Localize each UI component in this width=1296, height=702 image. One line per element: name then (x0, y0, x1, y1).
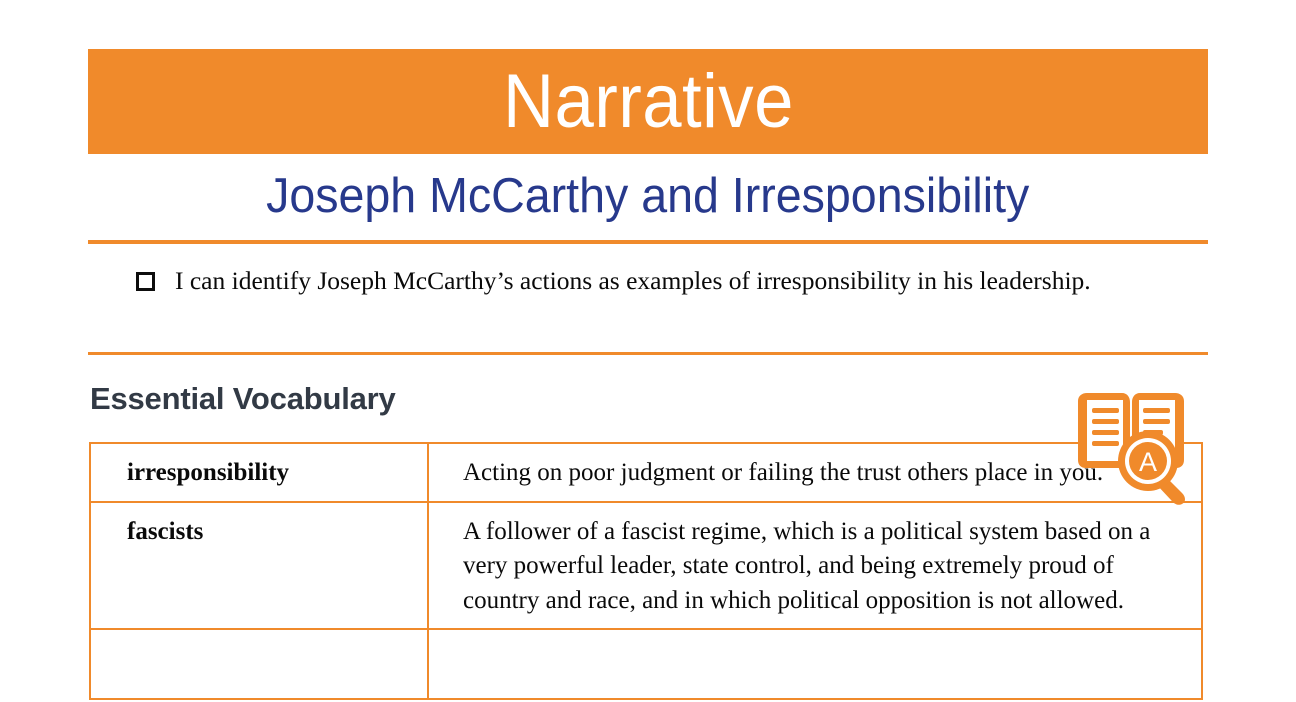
divider-above-objective (88, 240, 1208, 244)
vocabulary-table: irresponsibility Acting on poor judgment… (89, 442, 1203, 700)
table-row: irresponsibility Acting on poor judgment… (90, 443, 1202, 502)
learning-objective: I can identify Joseph McCarthy’s actions… (136, 263, 1156, 299)
subtitle-container: Joseph McCarthy and Irresponsibility (88, 163, 1208, 229)
page-subtitle: Joseph McCarthy and Irresponsibility (266, 172, 1029, 221)
banner-title: Narrative (503, 64, 794, 140)
vocabulary-definition: A follower of a fascist regime, which is… (428, 502, 1202, 630)
objective-text: I can identify Joseph McCarthy’s actions… (175, 263, 1091, 299)
title-banner: Narrative (88, 49, 1208, 154)
vocabulary-term: fascists (90, 502, 428, 630)
table-row: fascists A follower of a fascist regime,… (90, 502, 1202, 630)
vocabulary-heading: Essential Vocabulary (90, 381, 396, 417)
objective-checkbox[interactable] (136, 272, 155, 291)
divider-below-objective (88, 352, 1208, 355)
worksheet-page: Narrative Joseph McCarthy and Irresponsi… (0, 0, 1296, 702)
table-row (90, 629, 1202, 699)
vocabulary-definition: Acting on poor judgment or failing the t… (428, 443, 1202, 502)
vocabulary-term: irresponsibility (90, 443, 428, 502)
vocabulary-term (90, 629, 428, 699)
vocabulary-definition (428, 629, 1202, 699)
vocabulary-table-container: irresponsibility Acting on poor judgment… (89, 442, 1203, 700)
